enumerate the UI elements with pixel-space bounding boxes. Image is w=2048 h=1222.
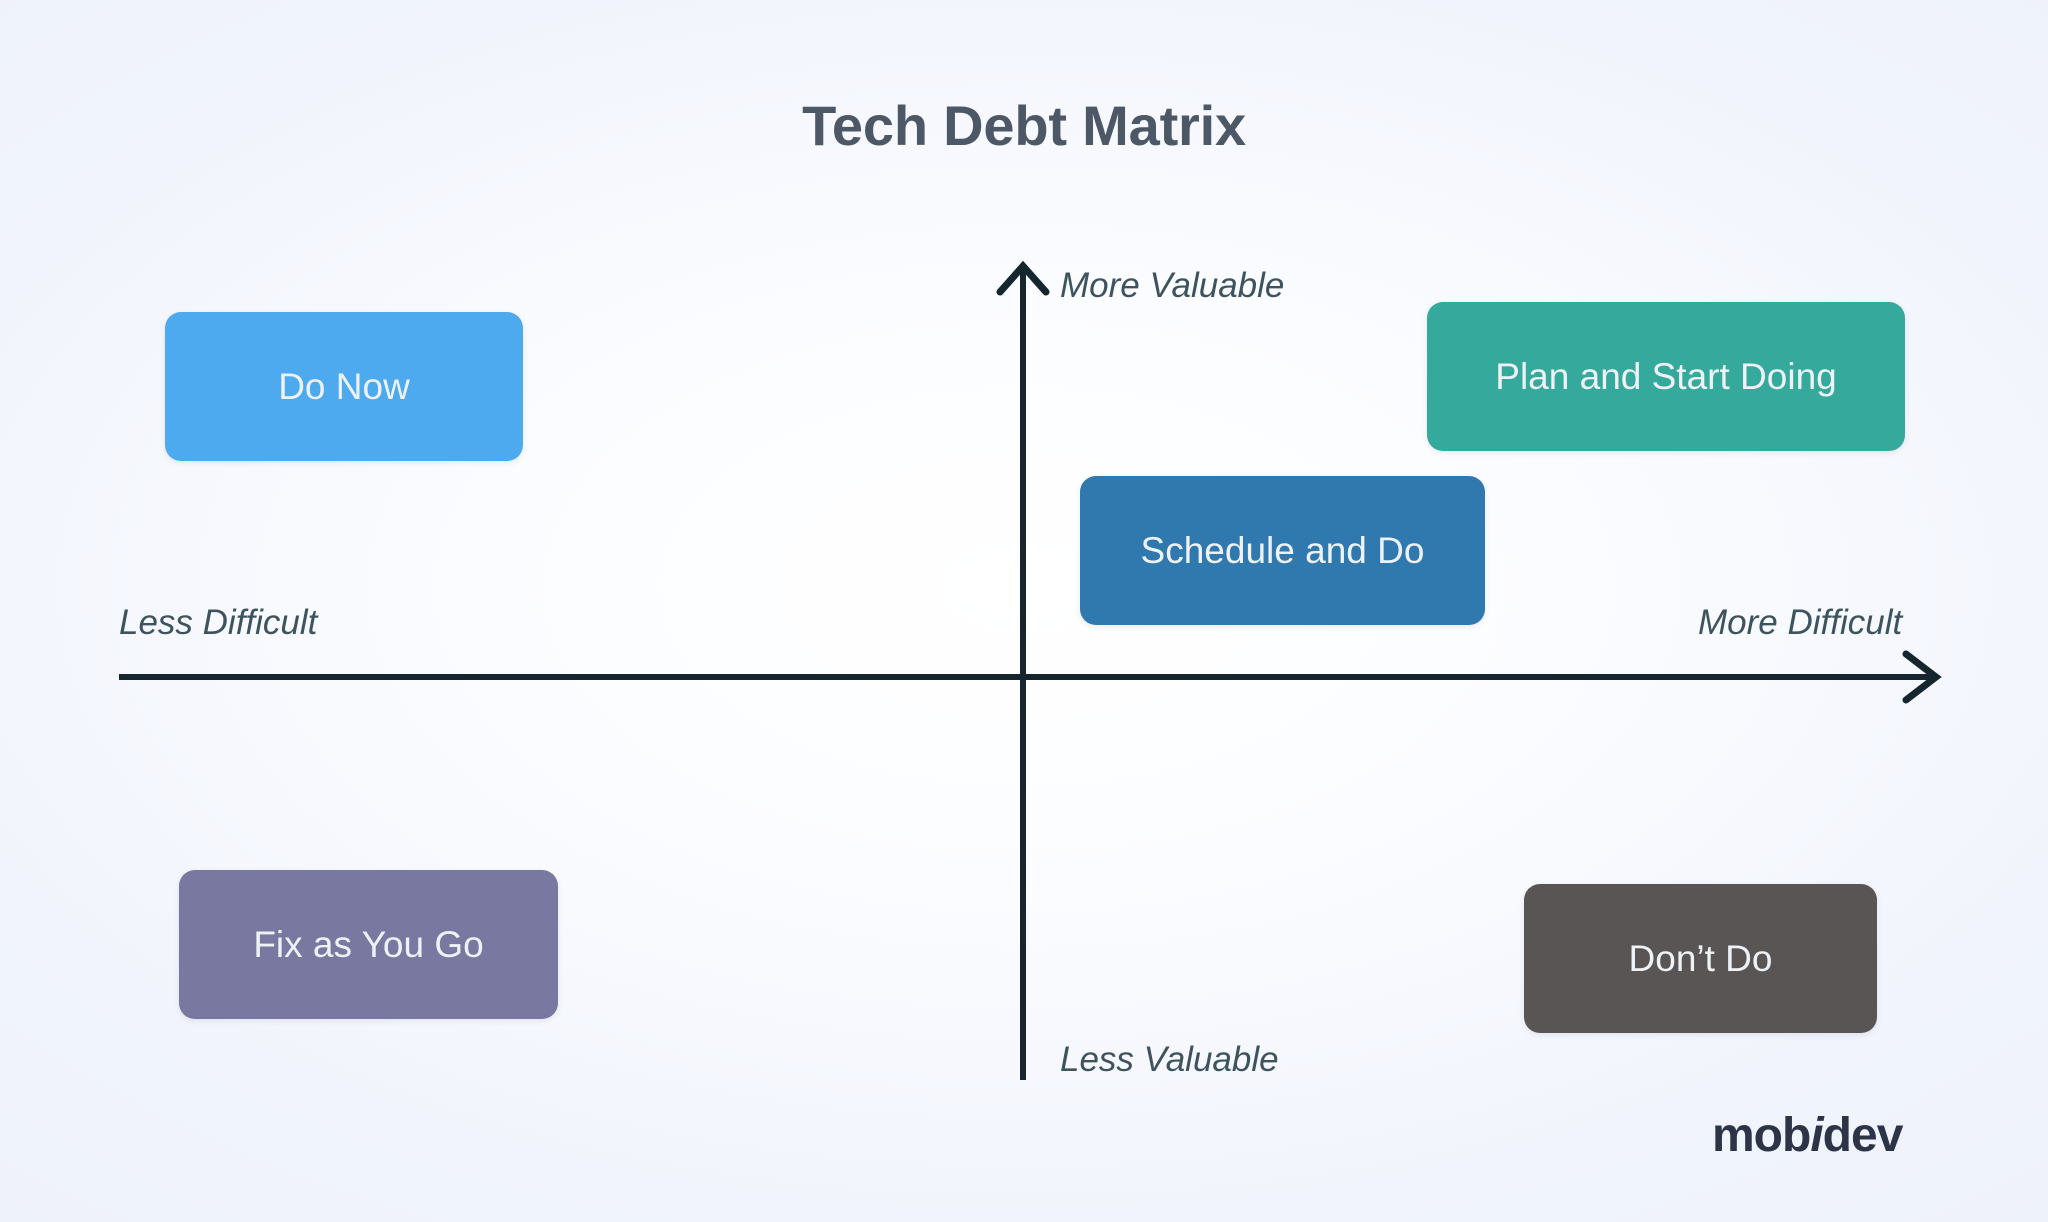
quadrant-box-dont-do: Don’t Do: [1524, 884, 1877, 1033]
axis-label-more-difficult: More Difficult: [1698, 605, 1902, 640]
quadrant-box-plan-and-start-doing: Plan and Start Doing: [1427, 302, 1905, 451]
mobidev-logo: mobidev: [1712, 1112, 1902, 1160]
axis-label-less-valuable: Less Valuable: [1060, 1042, 1279, 1077]
logo-text-part3: dev: [1823, 1109, 1903, 1162]
quadrant-box-fix-as-you-go: Fix as You Go: [179, 870, 558, 1019]
logo-text-part1: mob: [1712, 1109, 1810, 1162]
quadrant-box-schedule-and-do: Schedule and Do: [1080, 476, 1485, 625]
page-title: Tech Debt Matrix: [0, 98, 2048, 154]
y-axis-arrowhead: [1000, 266, 1046, 292]
diagram-canvas: Tech Debt Matrix More Valuable Less Valu…: [0, 0, 2048, 1222]
quadrant-box-do-now: Do Now: [165, 312, 523, 461]
x-axis-arrowhead: [1906, 654, 1936, 700]
axis-label-less-difficult: Less Difficult: [119, 605, 317, 640]
logo-text-part2: i: [1810, 1109, 1822, 1162]
axis-label-more-valuable: More Valuable: [1060, 268, 1284, 303]
